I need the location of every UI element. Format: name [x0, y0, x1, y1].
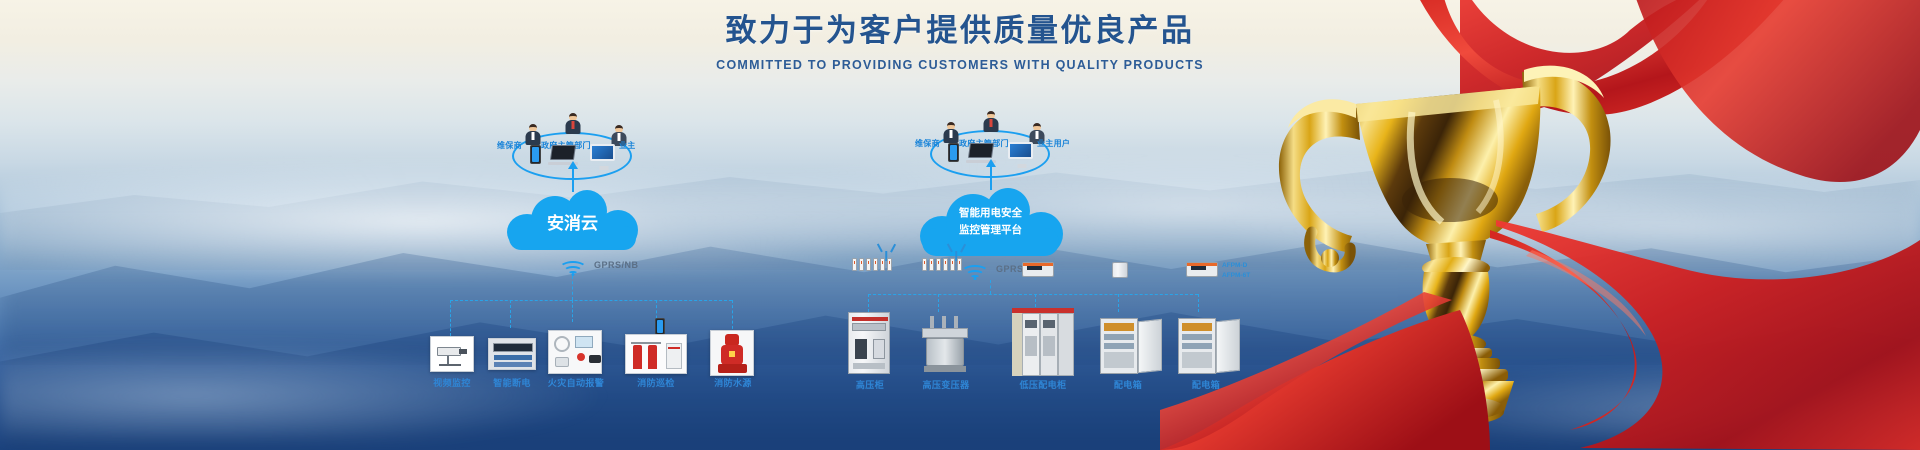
person-icon-maintenance	[942, 122, 959, 143]
mobile-alert-icon	[655, 318, 665, 335]
breaker-row-1	[922, 258, 962, 271]
headline-block: 致力于为客户提供质量优良产品 COMMITTED TO PROVIDING CU…	[0, 12, 1920, 72]
cloud-platform-anxiaoyun: 安消云	[505, 190, 640, 250]
bus-horizontal	[868, 294, 1198, 295]
uplink-protocol-label: GPRS/NB	[594, 260, 639, 270]
device-card-1	[488, 338, 536, 370]
branch-drop-3	[1118, 294, 1119, 312]
equipment-3	[1100, 318, 1162, 374]
headline-english: COMMITTED TO PROVIDING CUSTOMERS WITH QU…	[0, 58, 1920, 72]
device-card-2	[548, 330, 602, 374]
cloud-label-text: 安消云	[505, 212, 640, 236]
user-label-2: 业主	[619, 140, 636, 151]
person-icon-maintenance	[524, 124, 541, 145]
disconnect-switch-icon-0	[878, 243, 894, 259]
device-caption-2: 火灾自动报警	[535, 376, 617, 389]
promo-banner: 致力于为客户提供质量优良产品 COMMITTED TO PROVIDING CU…	[0, 0, 1920, 450]
equipment-caption-2: 低压配电柜	[1002, 378, 1084, 391]
desktop-monitor-icon	[1008, 142, 1036, 164]
bus-riser	[572, 276, 573, 300]
cloud-label-line2: 监控管理平台	[918, 223, 1063, 238]
bus-riser	[990, 280, 991, 294]
monitor-module-icon-0	[1022, 262, 1054, 277]
branch-drop-2	[572, 300, 573, 322]
equipment-0	[848, 312, 890, 374]
equipment-caption-0: 高压柜	[838, 378, 902, 391]
cloud-platform-power-safety: 智能用电安全 监控管理平台	[918, 188, 1063, 256]
person-icon-government	[982, 111, 999, 132]
equipment-caption-3: 配电箱	[1096, 378, 1160, 391]
headline-chinese: 致力于为客户提供质量优良产品	[0, 12, 1920, 51]
uplink-arrow	[572, 168, 574, 192]
equipment-1	[918, 316, 972, 374]
device-caption-3: 消防巡检	[617, 376, 695, 389]
smartphone-icon	[530, 145, 541, 164]
equipment-2	[1012, 308, 1074, 376]
uplink-arrow	[990, 166, 992, 190]
branch-drop-0	[450, 300, 451, 336]
person-icon-government	[564, 113, 581, 134]
breaker-row-0	[852, 258, 892, 271]
user-label-0: 维保商	[915, 138, 940, 149]
wifi-signal-icon	[558, 258, 588, 276]
sensor-module-icon	[1112, 262, 1128, 278]
device-caption-4: 消防水源	[700, 376, 766, 389]
device-card-3	[625, 334, 687, 374]
branch-drop-1	[510, 300, 511, 328]
disconnect-switch-icon-1	[948, 243, 964, 259]
device-card-0	[430, 336, 474, 372]
branch-drop-0	[868, 294, 869, 312]
device-card-4	[710, 330, 754, 376]
smartphone-icon	[948, 143, 959, 162]
branch-drop-4	[732, 300, 733, 334]
red-silk-ribbon-front	[1160, 220, 1920, 450]
branch-drop-1	[938, 294, 939, 312]
user-label-2: 业主用户	[1037, 138, 1070, 149]
cloud-label-line1: 智能用电安全	[918, 206, 1063, 221]
desktop-monitor-icon	[590, 144, 618, 166]
user-label-0: 维保商	[497, 140, 522, 151]
wifi-signal-icon	[960, 262, 990, 280]
equipment-caption-1: 高压变压器	[908, 378, 984, 391]
bus-horizontal	[450, 300, 732, 301]
